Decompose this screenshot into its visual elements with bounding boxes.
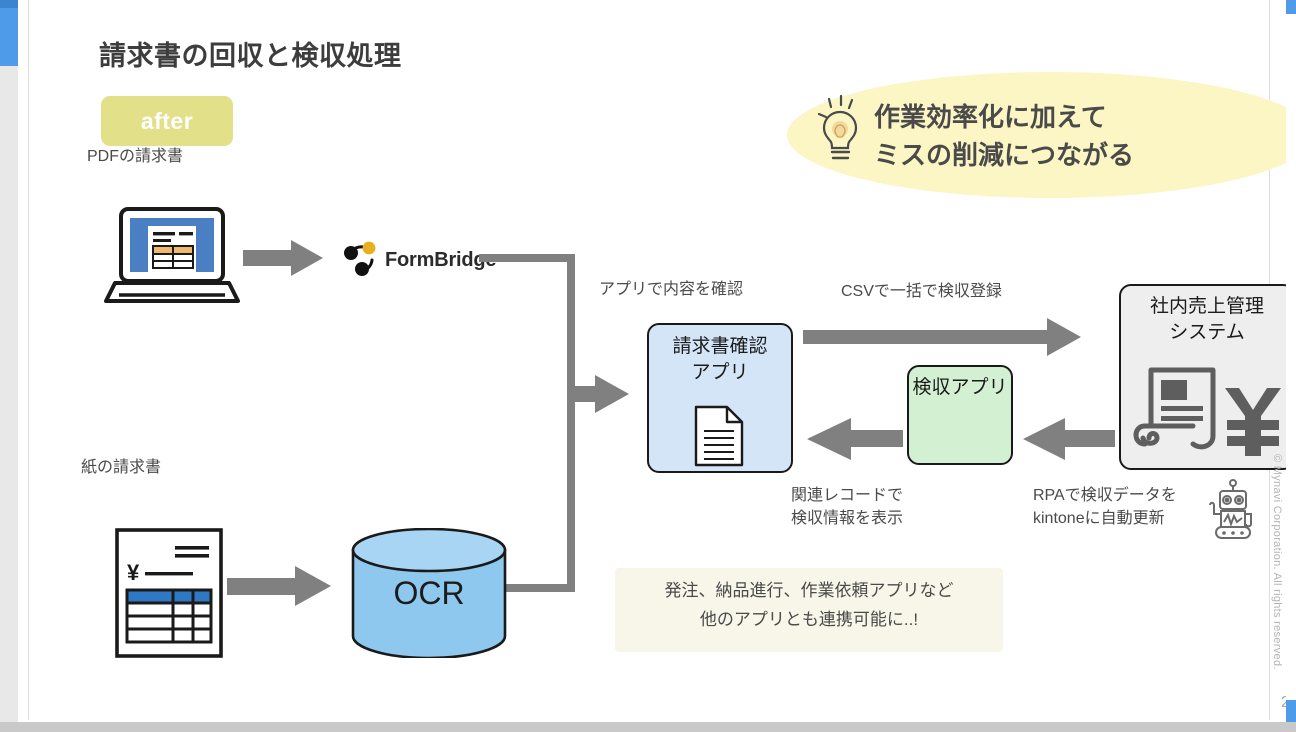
label-csv-bulk: CSVで一括で検収登録 xyxy=(841,280,1002,303)
right-scrollbar-top[interactable] xyxy=(1286,0,1296,14)
robot-icon xyxy=(1205,478,1261,542)
label-check-in-app: アプリで内容を確認 xyxy=(599,278,743,301)
arrow-green-to-blue-head xyxy=(807,418,851,460)
laptop-icon xyxy=(101,205,243,311)
callout-line-1: 作業効率化に加えて xyxy=(874,102,1107,132)
label-related-record-1: 関連レコードで xyxy=(791,487,903,504)
copyright-notice: © Mynavi Corporation. All rights reserve… xyxy=(1271,454,1283,670)
note-text: 発注、納品進行、作業依頼アプリなど他のアプリとも連携可能に..! xyxy=(615,576,1003,634)
slide-canvas: 請求書の回収と検収処理 after 作業効率化に加えてミスの削減につながる xyxy=(28,0,1270,720)
arrow-pdf-to-formbridge-shaft xyxy=(243,250,293,266)
callout-line-2: ミスの削減につながる xyxy=(874,140,1134,170)
invoice-scroll-yen-icon xyxy=(1127,358,1287,463)
arrow-csv-shaft xyxy=(803,330,1051,344)
node-invoice-app-line2: アプリ xyxy=(691,362,748,383)
formbridge-logo-icon xyxy=(341,240,381,278)
status-badge: after xyxy=(101,96,233,146)
viewer-bottom-band xyxy=(0,722,1296,732)
arrow-paper-to-ocr-shaft xyxy=(227,578,299,595)
note-line-2: 他のアプリとも連携可能に..! xyxy=(700,610,918,629)
slide-viewer: 請求書の回収と検収処理 after 作業効率化に加えてミスの削減につながる xyxy=(0,0,1296,732)
node-sales-system-line1: 社内売上管理 xyxy=(1150,296,1264,317)
scrollbar-top-cap[interactable] xyxy=(0,0,18,8)
viewer-gutter xyxy=(18,0,28,732)
node-invoice-app-title: 請求書確認アプリ xyxy=(647,334,793,386)
right-scrollbar-bottom[interactable] xyxy=(1286,700,1296,722)
label-rpa: RPAで検収データをkintoneに自動更新 xyxy=(1033,484,1177,530)
note-line-1: 発注、納品進行、作業依頼アプリなど xyxy=(665,581,954,600)
node-inspection-app-title: 検収アプリ xyxy=(907,375,1013,401)
label-rpa-2: kintoneに自動更新 xyxy=(1033,510,1165,527)
svg-text:¥: ¥ xyxy=(127,560,140,585)
vertical-scrollbar-track[interactable] xyxy=(0,0,18,732)
arrow-to-invoice-app-shaft xyxy=(569,386,597,402)
node-sales-system-title: 社内売上管理システム xyxy=(1119,294,1295,346)
document-icon xyxy=(693,405,745,472)
label-rpa-1: RPAで検収データを xyxy=(1033,487,1177,504)
arrow-system-to-green-shaft xyxy=(1063,430,1115,447)
paper-invoice-icon: ¥ xyxy=(115,528,223,658)
paper-source-label: 紙の請求書 xyxy=(81,456,161,479)
arrow-paper-to-ocr-head xyxy=(295,566,331,606)
arrow-system-to-green-head xyxy=(1023,418,1065,460)
ocr-label: OCR xyxy=(351,575,507,612)
label-related-record-2: 検収情報を表示 xyxy=(791,510,903,527)
label-related-record: 関連レコードで検収情報を表示 xyxy=(791,484,903,530)
connector-vertical xyxy=(567,254,575,592)
node-sales-system-line2: システム xyxy=(1169,322,1244,343)
right-scrollbar[interactable] xyxy=(1286,0,1296,732)
callout-text: 作業効率化に加えてミスの削減につながる xyxy=(874,99,1134,174)
node-invoice-app-line1: 請求書確認 xyxy=(672,336,767,357)
arrow-to-invoice-app-head xyxy=(595,375,629,413)
lightbulb-icon xyxy=(811,95,869,165)
arrow-csv-head xyxy=(1047,318,1081,356)
connector-fb-horizontal xyxy=(479,254,575,262)
arrow-pdf-to-formbridge-head xyxy=(291,240,323,276)
pdf-source-label: PDFの請求書 xyxy=(87,145,183,168)
page-title: 請求書の回収と検収処理 xyxy=(99,34,402,73)
arrow-green-to-blue-shaft xyxy=(849,430,903,447)
vertical-scrollbar-thumb[interactable] xyxy=(0,0,18,66)
